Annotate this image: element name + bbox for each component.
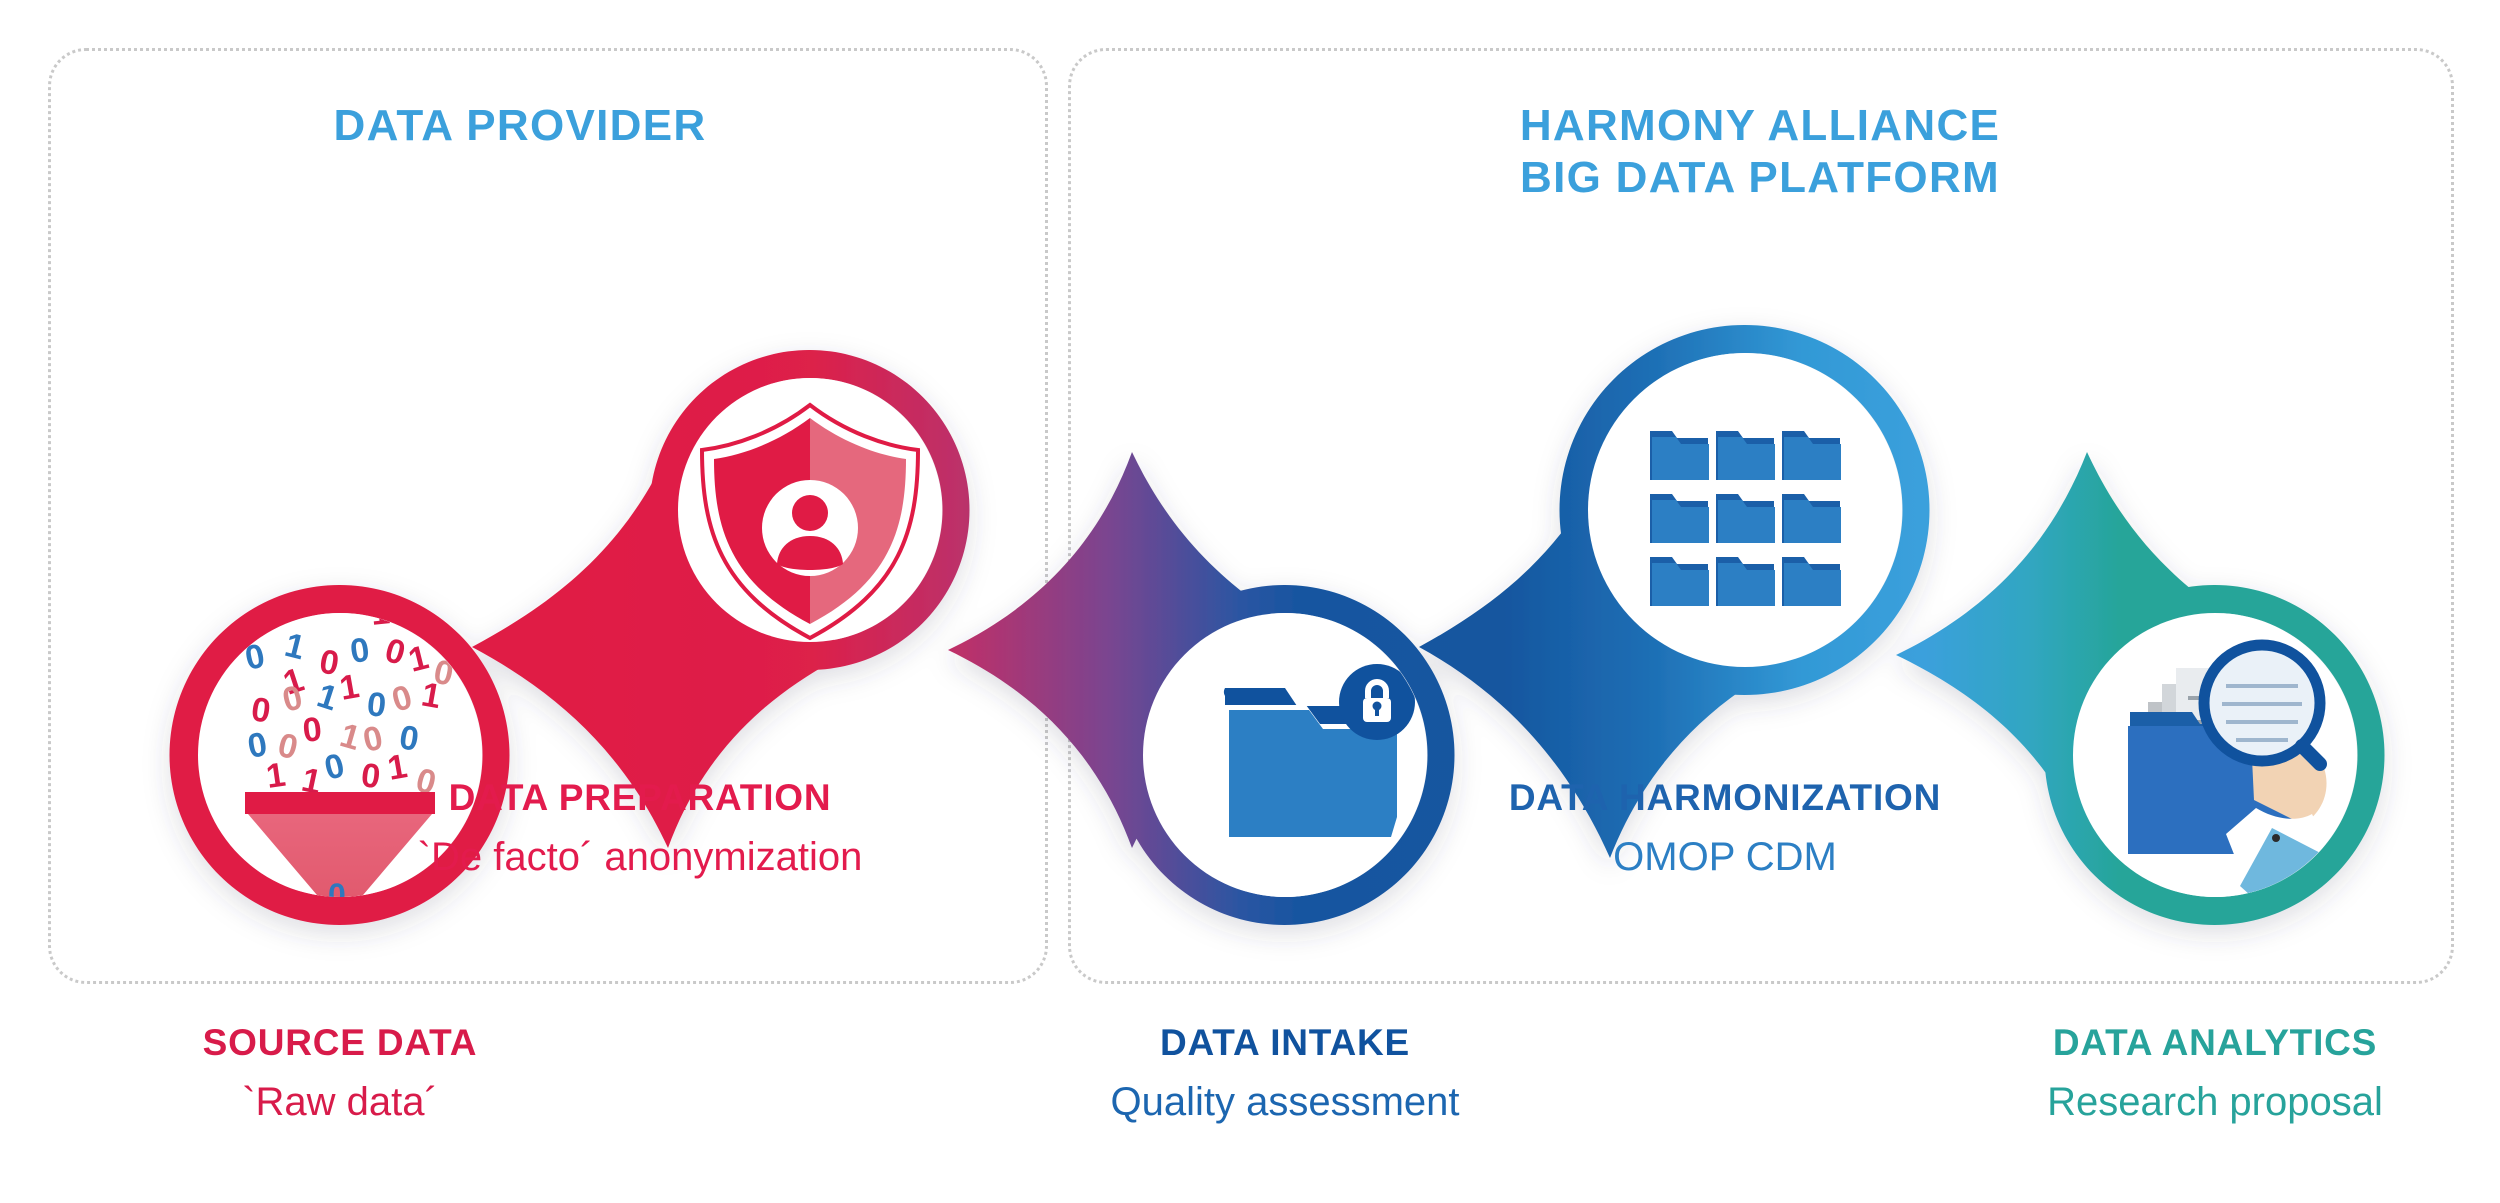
stage-label-data-harmonization: DATA HARMONIZATION OMOP CDM [1415, 775, 2035, 883]
panel-title-harmony-platform: HARMONY ALLIANCE BIG DATA PLATFORM [1390, 100, 2130, 204]
stage-label-source-data: SOURCE DATA `Raw data´ [60, 1020, 620, 1128]
stage-title-data-preparation: DATA PREPARATION [330, 775, 950, 821]
stage-label-data-preparation: DATA PREPARATION `De facto´ anonymizatio… [330, 775, 950, 883]
stage-title-source-data: SOURCE DATA [60, 1020, 620, 1066]
folder-grid-icon [1650, 431, 1841, 606]
stage-title-data-analytics: DATA ANALYTICS [1935, 1020, 2495, 1066]
stage-label-data-analytics: DATA ANALYTICS Research proposal [1935, 1020, 2495, 1128]
stage-subtitle-data-harmonization: OMOP CDM [1415, 831, 2035, 883]
panel-title-data-provider: DATA PROVIDER [280, 100, 760, 152]
stage-title-data-harmonization: DATA HARMONIZATION [1415, 775, 2035, 821]
diagram-canvas: 0 1 1 0 0 0 1 1 0 0 0 1 1 0 0 1 0 0 0 1 [0, 0, 2500, 1203]
stage-subtitle-data-analytics: Research proposal [1935, 1076, 2495, 1128]
stage-subtitle-source-data: `Raw data´ [60, 1076, 620, 1128]
stage-subtitle-data-intake: Quality assessment [1005, 1076, 1565, 1128]
stage-title-data-intake: DATA INTAKE [1005, 1020, 1565, 1066]
stage-label-data-intake: DATA INTAKE Quality assessment [1005, 1020, 1565, 1128]
svg-text:0: 0 [301, 710, 324, 750]
stage-subtitle-data-preparation: `De facto´ anonymization [330, 831, 950, 883]
